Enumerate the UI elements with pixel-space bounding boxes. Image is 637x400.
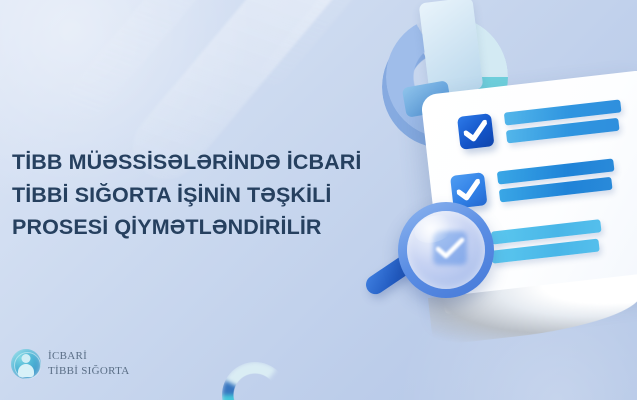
brand-logo-text: İCBARİ TİBBİ SIĞORTA xyxy=(48,349,130,378)
brand-logo[interactable]: İCBARİ TİBBİ SIĞORTA xyxy=(11,349,130,379)
background-streak-tertiary xyxy=(256,0,430,90)
magnified-checkbox xyxy=(433,231,467,265)
person-in-circle-icon xyxy=(11,349,41,379)
background-card-light xyxy=(419,0,484,95)
text-bar xyxy=(491,219,602,244)
headline-line-1: TİBB MÜƏSSİSƏLƏRİNDƏ İCBARİ xyxy=(12,146,412,179)
promo-banner: TİBB MÜƏSSİSƏLƏRİNDƏ İCBARİ TİBBİ SIĞORT… xyxy=(0,0,637,400)
logo-person-body xyxy=(18,364,34,377)
magnifier-lens xyxy=(407,211,485,289)
headline-line-2: TİBBİ SIĞORTA İŞİNİN TƏŞKİLİ xyxy=(12,179,412,212)
document-page-curl xyxy=(428,274,637,346)
check-mark-icon xyxy=(456,179,482,203)
magnifying-glass-icon xyxy=(398,202,494,298)
brand-logo-line-1: İCBARİ xyxy=(48,349,130,364)
text-bar xyxy=(504,99,622,125)
checkbox-checked-icon xyxy=(444,232,482,269)
page-title: TİBB MÜƏSSİSƏLƏRİNDƏ İCBARİ TİBBİ SIĞORT… xyxy=(12,146,412,244)
donut-chart-shadow xyxy=(382,26,504,148)
donut-chart-small-icon xyxy=(222,362,288,400)
text-bar xyxy=(497,158,615,184)
check-mark-icon xyxy=(463,120,489,144)
text-bar xyxy=(491,239,600,264)
check-mark-icon xyxy=(450,239,476,263)
text-bar xyxy=(499,177,613,203)
document-sheet-icon xyxy=(420,70,637,314)
logo-person-head xyxy=(22,354,31,363)
checkbox-checked-icon xyxy=(450,172,488,209)
background-card-blue xyxy=(402,80,453,118)
headline-line-3: PROSESİ QİYMƏTLƏNDİRİLİR xyxy=(12,211,412,244)
checkbox-checked-icon xyxy=(457,113,495,150)
magnified-check-mark-icon xyxy=(436,237,466,261)
brand-logo-line-2: TİBBİ SIĞORTA xyxy=(48,364,130,379)
text-bar xyxy=(506,118,620,144)
background-glow-bottom-right xyxy=(387,250,637,400)
donut-chart-icon xyxy=(386,16,508,138)
background-streak-secondary xyxy=(58,0,281,128)
magnifier-handle xyxy=(362,245,427,298)
magnifier-lens-gloss xyxy=(411,210,457,247)
